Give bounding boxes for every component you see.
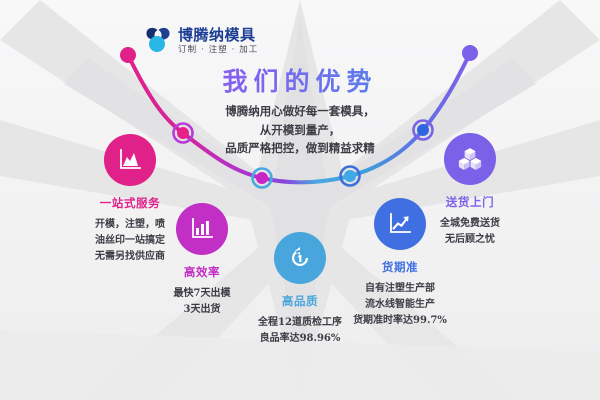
feature-badge-one-stop-service[interactable] [104,134,156,186]
feature-title-door-to-door-delivery: 送货上门 [385,194,555,210]
boxes-icon [457,146,483,172]
bar-chart-icon [189,216,215,242]
node-3 [253,169,272,188]
feature-desc-line: 全城免费送货 [385,216,555,232]
feature-badge-door-to-door-delivery[interactable] [444,133,496,185]
area-chart-icon [117,147,143,173]
quality-refresh-icon [287,245,313,271]
butterfly-logo-icon [143,27,173,55]
feature-desc-on-time-delivery: 自有注塑生产部流水线智能生产货期准时率达99.7% [315,281,485,328]
feature-desc-line: 无后顾之忧 [385,232,555,248]
node-4 [341,167,360,186]
feature-desc-line: 货期准时率达99.7% [315,313,485,329]
blurb-line-1: 博腾纳用心做好每一套模具， [0,102,600,121]
feature-desc-line: 良品率达98.96% [215,331,385,347]
feature-desc-line: 自有注塑生产部 [315,281,485,297]
brand-name: 博腾纳模具 [178,28,258,43]
infographic-canvas: 博腾纳模具 订制 · 注塑 · 加工 我们的优势 博腾纳用心做好每一套模具， 从… [0,0,600,400]
page-title: 我们的优势 [0,62,600,98]
node-1 [120,47,136,63]
feature-title-on-time-delivery: 货期准 [315,259,485,275]
feature-door-to-door-delivery[interactable]: 送货上门全城免费送货无后顾之忧 [385,133,555,248]
brand-logo: 博腾纳模具 订制 · 注塑 · 加工 [143,27,258,55]
brand-tagline: 订制 · 注塑 · 加工 [178,46,258,55]
feature-desc-door-to-door-delivery: 全城免费送货无后顾之忧 [385,216,555,248]
node-6 [462,45,478,61]
feature-desc-line: 流水线智能生产 [315,297,485,313]
